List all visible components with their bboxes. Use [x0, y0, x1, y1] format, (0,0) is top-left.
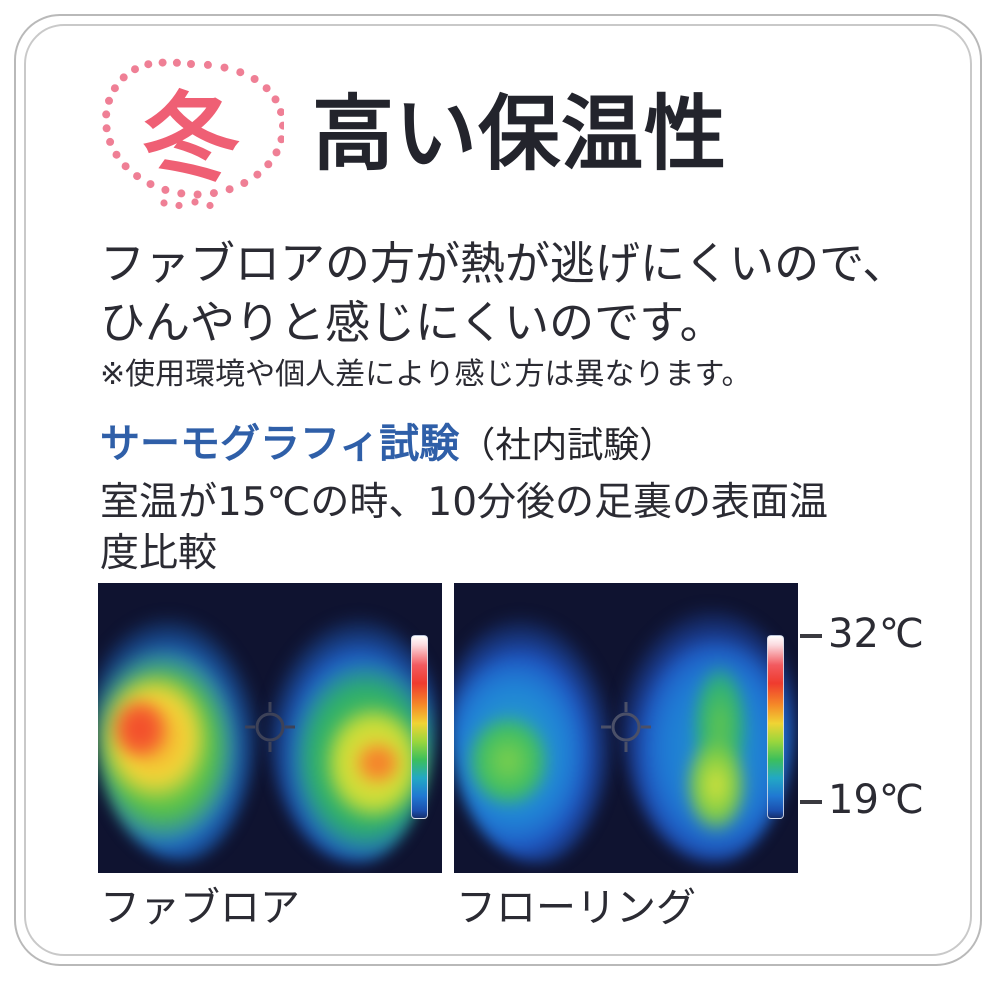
test-heading: サーモグラフィ試験（社内試験）	[100, 420, 675, 468]
thermal-colorbar-flooring	[767, 635, 784, 819]
infographic-card: 冬 高い保温性 ファブロアの方が熱が逃げにくいので、ひんやりと感じにくいのです。…	[0, 0, 1000, 1000]
thermal-foot-left	[98, 611, 260, 861]
panel-caption-fabfloor: ファブロア	[100, 888, 300, 928]
scale-tick-min	[800, 800, 822, 804]
scale-tick-max	[800, 634, 822, 638]
panel-caption-flooring: フローリング	[456, 888, 696, 928]
thermal-panel-flooring	[454, 583, 798, 873]
page-title: 高い保温性	[312, 92, 727, 178]
lead-paragraph: ファブロアの方が熱が逃げにくいので、ひんやりと感じにくいのです。	[100, 234, 920, 353]
scale-label-max: 32℃	[828, 614, 924, 654]
crosshair-reticle-icon	[243, 700, 297, 754]
thermal-foot-left	[454, 613, 616, 863]
crosshair-reticle-icon	[599, 700, 653, 754]
season-badge: 冬	[98, 58, 284, 222]
thermal-panel-fabfloor	[98, 583, 442, 873]
test-heading-highlight: サーモグラフィ試験	[100, 421, 459, 467]
disclaimer-note: ※使用環境や個人差により感じ方は異なります。	[100, 356, 930, 394]
season-badge-label: 冬	[98, 58, 284, 222]
test-conditions: 室温が15℃の時、10分後の足裏の表面温度比較	[100, 478, 860, 579]
test-heading-paren: （社内試験）	[459, 425, 675, 466]
scale-label-min: 19℃	[828, 780, 924, 820]
thermal-colorbar-fabfloor	[411, 635, 428, 819]
thermography-panels	[98, 583, 798, 873]
